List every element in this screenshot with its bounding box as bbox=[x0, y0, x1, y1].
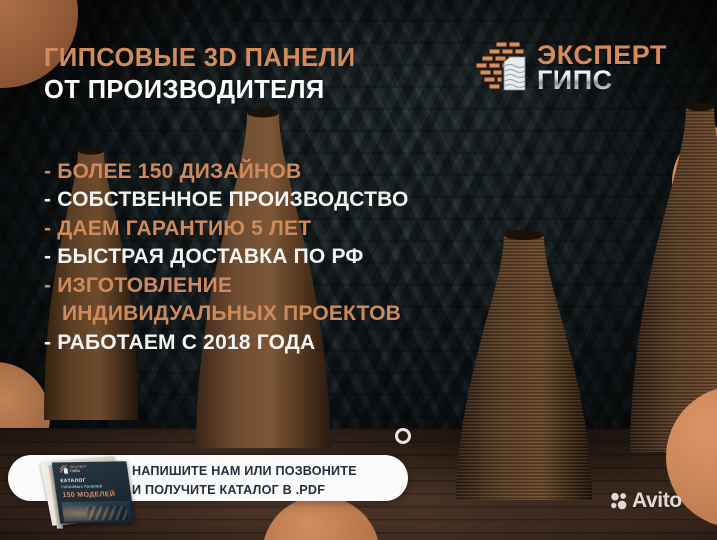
booklet-cover: ЭКСПЕРТ ГИПС КАТАЛОГ ГИПСОВЫХ ПАНЕЛЕЙ 15… bbox=[52, 461, 135, 524]
booklet-subtitle: ГИПСОВЫХ ПАНЕЛЕЙ bbox=[61, 484, 103, 489]
vase-center bbox=[450, 228, 600, 528]
feature-item-warranty: - ДАЕМ ГАРАНТИЮ 5 ЛЕТ bbox=[44, 215, 409, 243]
feature-item-since: - РАБОТАЕМ С 2018 ГОДА bbox=[44, 329, 409, 357]
brand-logo: ЭКСПЕРТ ГИПС bbox=[470, 40, 667, 96]
booklet-logo-word-2: ГИПС bbox=[70, 469, 88, 473]
feature-item-custom-cont: ИНДИВИДУАЛЬНЫХ ПРОЕКТОВ bbox=[44, 300, 409, 328]
booklet-cover-photo bbox=[61, 501, 131, 522]
brick-wall-panel-icon-small bbox=[58, 465, 68, 474]
booklet-logo: ЭКСПЕРТ ГИПС bbox=[58, 465, 88, 474]
avito-label: Avito bbox=[632, 489, 682, 513]
headline-line-1: ГИПСОВЫЕ 3D ПАНЕЛИ bbox=[44, 42, 355, 74]
cta-line-2: И ПОЛУЧИТЕ КАТАЛОГ В .PDF bbox=[132, 481, 357, 500]
ring-outline bbox=[395, 428, 411, 444]
avito-circles-icon bbox=[610, 492, 628, 510]
booklet-count: 150 МОДЕЛЕЙ bbox=[62, 491, 116, 499]
brick-wall-panel-icon bbox=[470, 40, 528, 96]
logo-word-secondary: ГИПС bbox=[537, 68, 667, 93]
catalog-booklet-mockup: ЭКСПЕРТ ГИПС КАТАЛОГ ГИПСОВЫХ ПАНЕЛЕЙ 15… bbox=[39, 446, 141, 534]
feature-list: - БОЛЕЕ 150 ДИЗАЙНОВ - СОБСТВЕННОЕ ПРОИЗ… bbox=[44, 158, 409, 357]
feature-item-production: - СОБСТВЕННОЕ ПРОИЗВОДСТВО bbox=[44, 186, 409, 214]
feature-item-designs: - БОЛЕЕ 150 ДИЗАЙНОВ bbox=[44, 158, 409, 186]
advertisement-banner: ГИПСОВЫЕ 3D ПАНЕЛИ ОТ ПРОИЗВОДИТЕЛЯ - БО… bbox=[0, 0, 717, 540]
cta-text: НАПИШИТЕ НАМ ИЛИ ПОЗВОНИТЕ И ПОЛУЧИТЕ КА… bbox=[132, 462, 357, 500]
headline: ГИПСОВЫЕ 3D ПАНЕЛИ ОТ ПРОИЗВОДИТЕЛЯ bbox=[44, 42, 355, 106]
avito-watermark: Avito bbox=[610, 489, 682, 513]
cta-line-1: НАПИШИТЕ НАМ ИЛИ ПОЗВОНИТЕ bbox=[132, 462, 357, 481]
feature-item-custom: - ИЗГОТОВЛЕНИЕ bbox=[44, 272, 409, 300]
booklet-title: КАТАЛОГ bbox=[60, 478, 86, 484]
feature-item-delivery: - БЫСТРАЯ ДОСТАВКА ПО РФ bbox=[44, 243, 409, 271]
headline-line-2: ОТ ПРОИЗВОДИТЕЛЯ bbox=[44, 74, 355, 106]
